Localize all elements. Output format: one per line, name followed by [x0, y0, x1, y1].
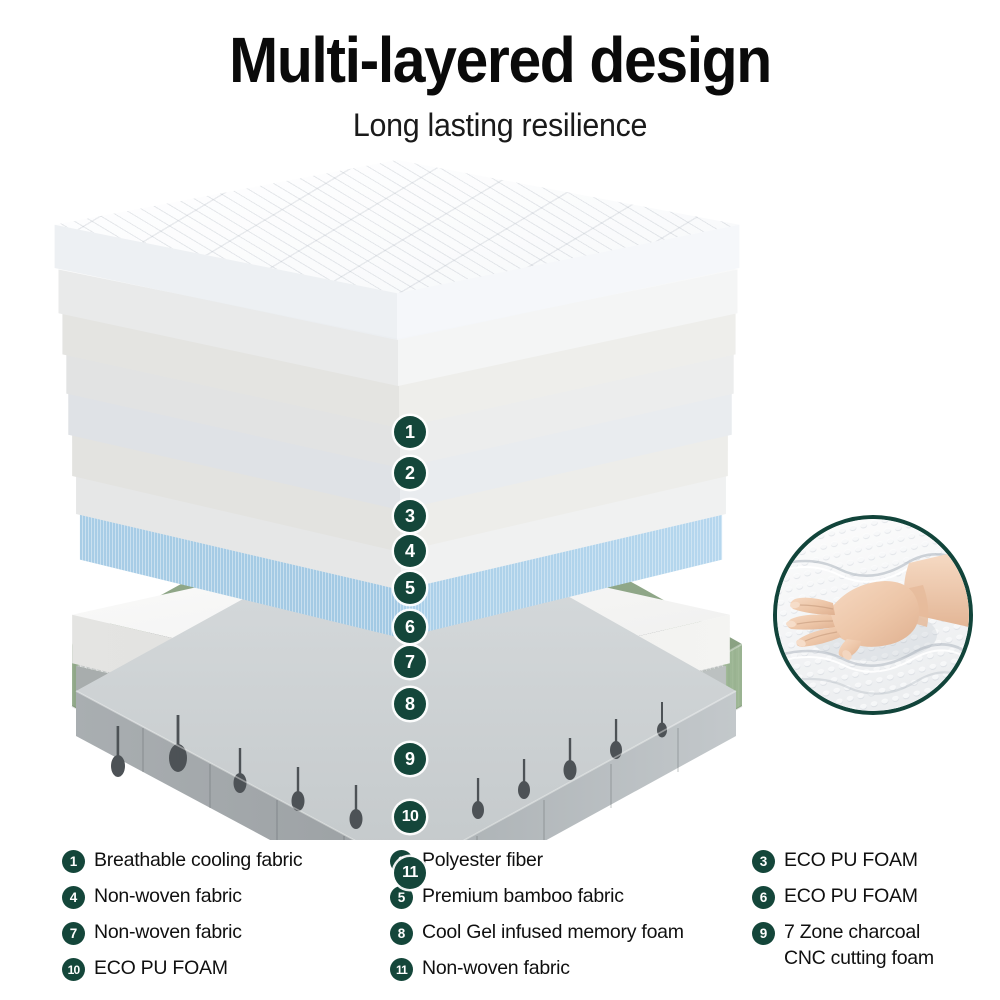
legend-badge-8: 8 [390, 922, 413, 945]
layer-1-breathable-cooling-fabric [44, 160, 750, 340]
page-title: Multi-layered design [40, 28, 960, 93]
legend-item-7: 7Non-woven fabric [62, 920, 392, 956]
legend-label-4: Non-woven fabric [94, 884, 242, 910]
legend-badge-11: 11 [390, 958, 413, 981]
callout-badge-1: 1 [394, 416, 426, 448]
legend-badge-5: 5 [390, 886, 413, 909]
callout-badge-3: 3 [394, 500, 426, 532]
legend-item-3: 3ECO PU FOAM [752, 848, 992, 884]
callout-badge-10: 10 [394, 801, 426, 833]
legend-item-4: 4Non-woven fabric [62, 884, 392, 920]
legend-item-11: 11Non-woven fabric [390, 956, 750, 992]
legend-label-5: Premium bamboo fabric [422, 884, 624, 910]
legend-item-5: 5Premium bamboo fabric [390, 884, 750, 920]
legend-column-3: 3ECO PU FOAM6ECO PU FOAM97 Zone charcoal… [752, 848, 992, 956]
legend-badge-4: 4 [62, 886, 85, 909]
callout-badge-9: 9 [394, 743, 426, 775]
page-subtitle: Long lasting resilience [25, 107, 975, 144]
legend-label-11: Non-woven fabric [422, 956, 570, 982]
header: Multi-layered design Long lasting resili… [0, 0, 1000, 144]
legend-badge-3: 3 [752, 850, 775, 873]
legend-item-1: 1Breathable cooling fabric [62, 848, 392, 884]
legend-label-3: ECO PU FOAM [784, 848, 918, 874]
legend-badge-6: 6 [752, 886, 775, 909]
legend-column-1: 1Breathable cooling fabric4Non-woven fab… [62, 848, 392, 992]
legend-column-2: 2Polyester fiber5Premium bamboo fabric8C… [390, 848, 750, 992]
legend-badge-1: 1 [62, 850, 85, 873]
legend-label-7: Non-woven fabric [94, 920, 242, 946]
callout-badge-7: 7 [394, 646, 426, 678]
legend-label-6: ECO PU FOAM [784, 884, 918, 910]
legend-item-9: 97 Zone charcoal CNC cutting foam [752, 920, 992, 956]
callout-badge-2: 2 [394, 457, 426, 489]
callout-badge-4: 4 [394, 535, 426, 567]
legend-label-10: ECO PU FOAM [94, 956, 228, 982]
legend-item-6: 6ECO PU FOAM [752, 884, 992, 920]
legend-label-1: Breathable cooling fabric [94, 848, 302, 874]
legend-badge-7: 7 [62, 922, 85, 945]
legend-label-8: Cool Gel infused memory foam [422, 920, 684, 946]
legend-badge-9: 9 [752, 922, 775, 945]
legend-label-2: Polyester fiber [422, 848, 543, 874]
inset-illustration [777, 519, 969, 711]
exploded-mattress-diagram: 1234567891011 [0, 170, 1000, 840]
legend-badge-10: 10 [62, 958, 85, 981]
legend-item-8: 8Cool Gel infused memory foam [390, 920, 750, 956]
callout-badge-8: 8 [394, 688, 426, 720]
legend-item-2: 2Polyester fiber [390, 848, 750, 884]
inset-photo [777, 519, 969, 711]
hand-pressing-fabric-inset [773, 515, 973, 715]
callout-badge-6: 6 [394, 611, 426, 643]
layer-legend: 1Breathable cooling fabric4Non-woven fab… [0, 848, 1000, 1000]
legend-label-9: 7 Zone charcoal CNC cutting foam [784, 920, 934, 971]
legend-item-10: 10ECO PU FOAM [62, 956, 392, 992]
callout-badge-11: 11 [394, 857, 426, 889]
callout-badge-5: 5 [394, 572, 426, 604]
